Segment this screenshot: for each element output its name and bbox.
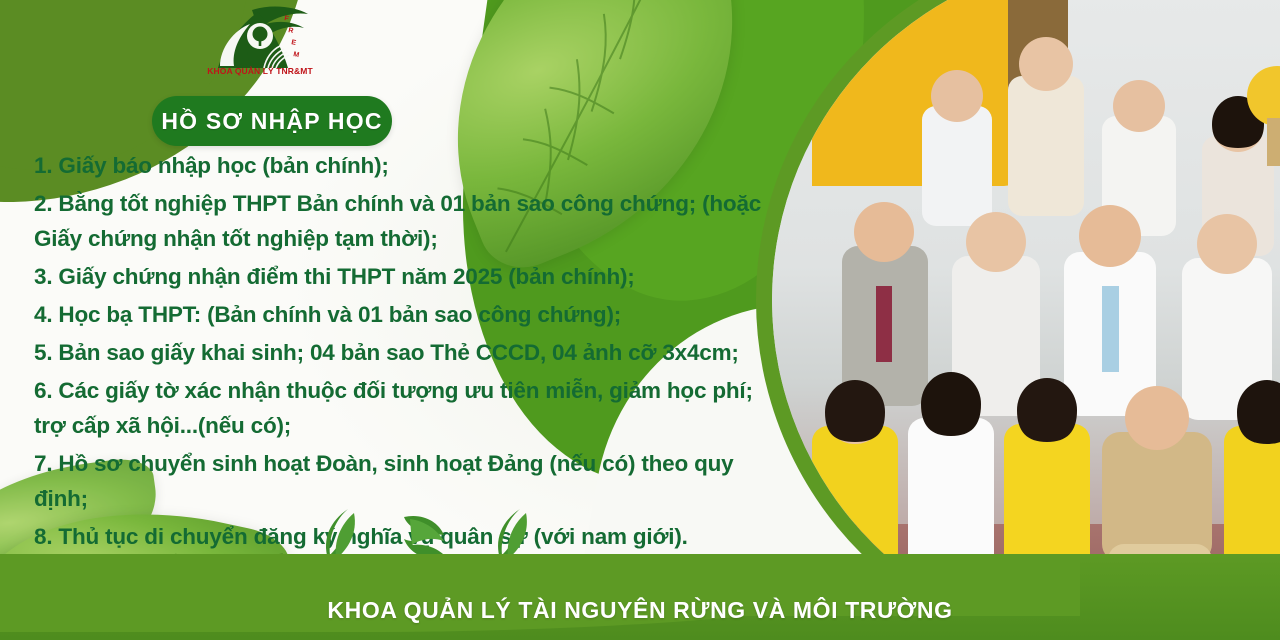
svg-text:F: F	[284, 15, 290, 23]
title-badge-label: HỒ SƠ NHẬP HỌC	[161, 108, 382, 135]
title-badge: HỒ SƠ NHẬP HỌC	[152, 96, 392, 146]
svg-text:E: E	[291, 39, 297, 47]
list-item: 1. Giấy báo nhập học (bản chính);	[34, 148, 764, 183]
crowd-illustration	[772, 0, 1280, 640]
logo-caption: KHOA QUẢN LÝ TNR&MT	[196, 66, 324, 76]
svg-text:M: M	[293, 51, 300, 59]
list-item: 4. Học bạ THPT: (Bản chính và 01 bản sao…	[34, 297, 764, 332]
list-item: 2. Bằng tốt nghiệp THPT Bản chính và 01 …	[34, 186, 764, 256]
poster-root: F R E M KHOA QUẢN LÝ TNR&MT HỒ SƠ NHẬP H…	[0, 0, 1280, 640]
list-item: 6. Các giấy tờ xác nhận thuộc đối tượng …	[34, 373, 764, 443]
list-item: 3. Giấy chứng nhận điểm thi THPT năm 202…	[34, 259, 764, 294]
footer-label: KHOA QUẢN LÝ TÀI NGUYÊN RỪNG VÀ MÔI TRƯỜ…	[0, 597, 1280, 624]
document-list: 1. Giấy báo nhập học (bản chính); 2. Bằn…	[34, 148, 764, 557]
list-item: 5. Bản sao giấy khai sinh; 04 bản sao Th…	[34, 335, 764, 370]
group-photo	[772, 0, 1280, 640]
svg-text:R: R	[288, 27, 294, 35]
